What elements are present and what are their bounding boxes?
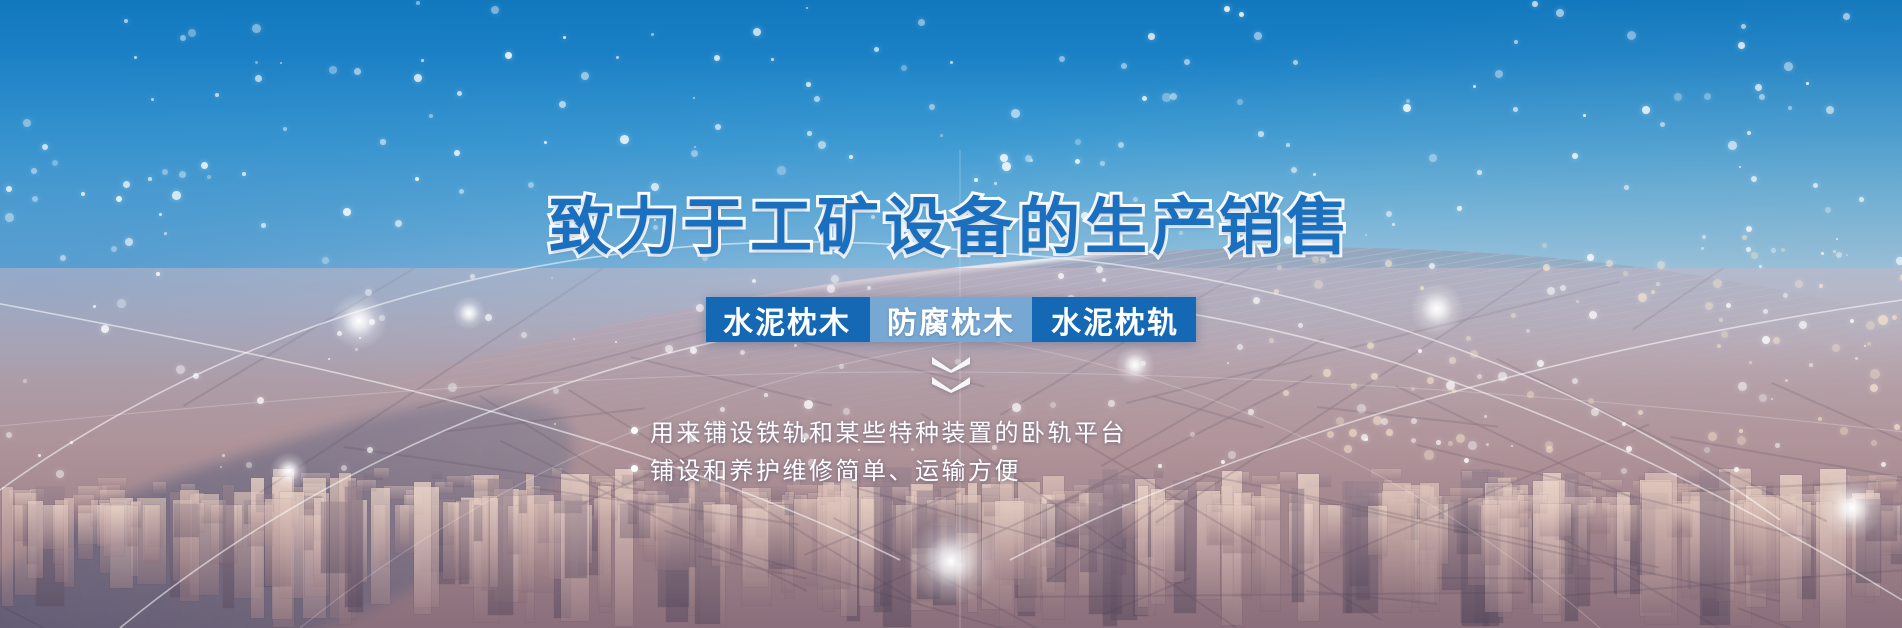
product-tag-cement-sleeper[interactable]: 水泥枕木 <box>706 297 868 342</box>
feature-text: 用来铺设铁轨和某些特种装置的卧轨平台 <box>650 413 1127 448</box>
feature-list: 用来铺设铁轨和某些特种装置的卧轨平台 铺设和养护维修简单、运输方便 <box>631 411 1271 487</box>
bullet-dot-icon <box>631 427 638 434</box>
banner-content: 致力于工矿设备的生产销售 水泥枕木 防腐枕木 水泥枕轨 用来铺设铁轨和某些特种装… <box>0 0 1902 628</box>
list-item: 铺设和养护维修简单、运输方便 <box>631 449 1271 487</box>
bullet-dot-icon <box>631 465 638 472</box>
hero-banner: 致力于工矿设备的生产销售 水泥枕木 防腐枕木 水泥枕轨 用来铺设铁轨和某些特种装… <box>0 0 1902 628</box>
list-item: 用来铺设铁轨和某些特种装置的卧轨平台 <box>631 411 1271 449</box>
product-tag-cement-rail[interactable]: 水泥枕轨 <box>1034 297 1196 342</box>
feature-text: 铺设和养护维修简单、运输方便 <box>650 451 1021 486</box>
product-tag-bar: 水泥枕木 防腐枕木 水泥枕轨 <box>706 297 1196 342</box>
chevron-double-down-icon[interactable] <box>928 352 974 396</box>
page-title: 致力于工矿设备的生产销售 <box>0 196 1902 258</box>
product-tag-antiseptic-sleeper[interactable]: 防腐枕木 <box>870 297 1032 342</box>
